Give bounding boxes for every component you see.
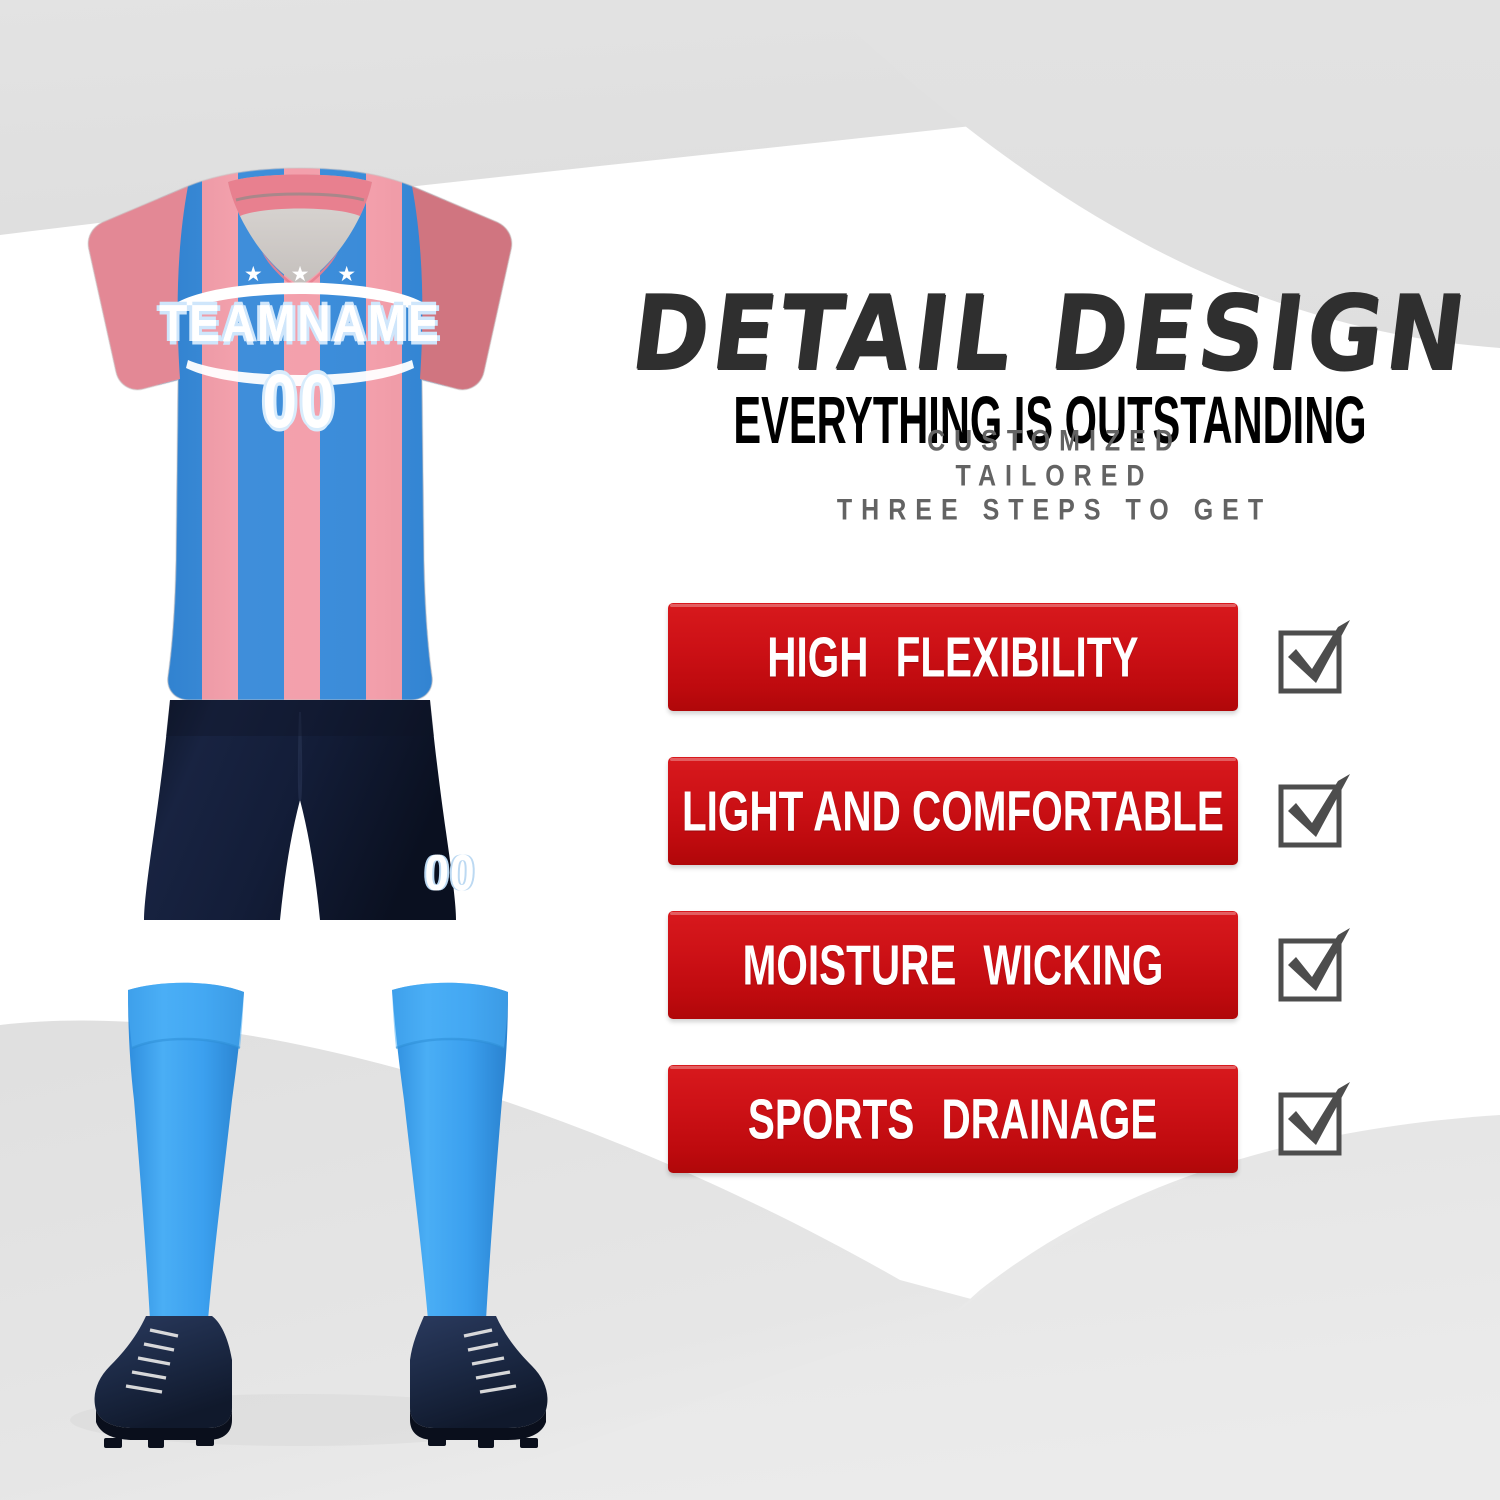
socks	[128, 983, 508, 1320]
feature-bar-light-and-comfortable[interactable]: LIGHT AND COMFORTABLE	[668, 757, 1238, 865]
check-icon	[1272, 1079, 1354, 1161]
check-icon	[1272, 617, 1354, 699]
feature-row: MOISTURE WICKING	[600, 911, 1500, 1039]
uniform-illustration	[0, 0, 600, 1500]
feature-bar-high-flexibility[interactable]: HIGH FLEXIBILITY	[668, 603, 1238, 711]
check-icon	[1272, 771, 1354, 853]
feature-label: LIGHT AND COMFORTABLE	[682, 783, 1224, 839]
feature-list: HIGH FLEXIBILITY LIGHT AND COMFORTABLE	[600, 603, 1500, 1219]
feature-bar-sports-drainage[interactable]: SPORTS DRAINAGE	[668, 1065, 1238, 1173]
feature-bar-moisture-wicking[interactable]: MOISTURE WICKING	[668, 911, 1238, 1019]
shorts	[144, 700, 456, 920]
checkbox-checked-icon[interactable]	[1272, 771, 1354, 853]
product-marketing-banner: ★ ★ ★ TEAMNAME 00 00 DETAIL DESIGN EVERY…	[0, 0, 1500, 1500]
checkbox-checked-icon[interactable]	[1272, 925, 1354, 1007]
tagline-3: THREE STEPS TO GET	[600, 490, 1500, 531]
product-image-panel: ★ ★ ★ TEAMNAME 00 00	[0, 0, 600, 1500]
feature-row: SPORTS DRAINAGE	[600, 1065, 1500, 1193]
checkbox-checked-icon[interactable]	[1272, 1079, 1354, 1161]
tagline-group: CUSTOMIZED TAILORED THREE STEPS TO GET	[600, 424, 1500, 528]
page-title: DETAIL DESIGN	[594, 282, 1500, 385]
content-panel: DETAIL DESIGN EVERYTHING IS OUTSTANDING …	[600, 0, 1500, 1500]
check-icon	[1272, 925, 1354, 1007]
cleats	[95, 1316, 548, 1448]
feature-label: MOISTURE WICKING	[743, 937, 1164, 993]
feature-label: SPORTS DRAINAGE	[748, 1091, 1157, 1147]
feature-row: LIGHT AND COMFORTABLE	[600, 757, 1500, 885]
feature-label: HIGH FLEXIBILITY	[767, 629, 1138, 685]
checkbox-checked-icon[interactable]	[1272, 617, 1354, 699]
feature-row: HIGH FLEXIBILITY	[600, 603, 1500, 731]
